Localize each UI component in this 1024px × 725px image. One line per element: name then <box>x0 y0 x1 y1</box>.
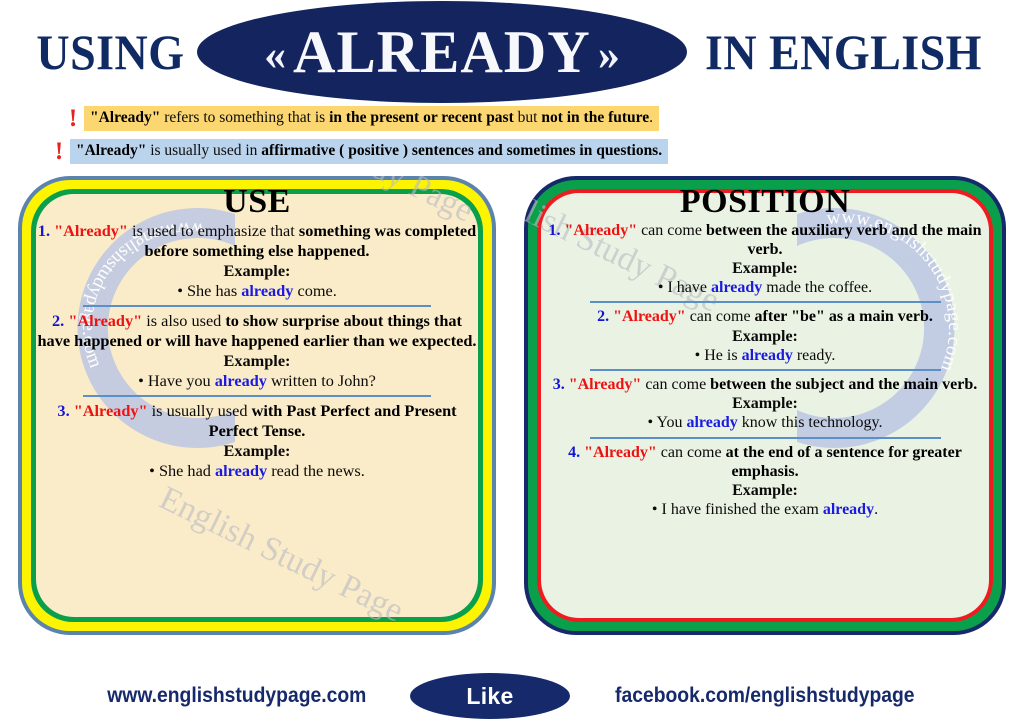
position-item-1: 1. "Already" can come between the auxili… <box>540 221 990 298</box>
position-item-4: 4. "Already" can come at the end of a se… <box>540 443 990 520</box>
position-item-4-text: 4. "Already" can come at the end of a se… <box>540 443 990 481</box>
position-item-4-example: • I have finished the exam already. <box>540 500 990 519</box>
position-item-2-example: • He is already ready. <box>540 346 990 365</box>
use-item-3-text: 3. "Already" is usually used with Past P… <box>34 401 480 441</box>
divider <box>590 369 941 371</box>
title-suffix: IN ENGLISH <box>705 27 982 77</box>
use-item-3-example-label: Example: <box>34 441 480 461</box>
note-banner-1: ! "Already" refers to something that is … <box>62 106 659 131</box>
panel-use-content: USE 1. "Already" is used to emphasize th… <box>18 176 496 635</box>
infographic-page: USING « ALREADY » IN ENGLISH ! "Already"… <box>0 0 1024 725</box>
position-item-4-example-label: Example: <box>540 481 990 500</box>
note-banners: ! "Already" refers to something that is … <box>0 106 1024 174</box>
position-item-3-text: 3. "Already" can come between the subjec… <box>540 375 990 394</box>
position-item-3-example: • You already know this technology. <box>540 413 990 432</box>
position-item-1-example-label: Example: <box>540 259 990 278</box>
use-item-2: 2. "Already" is also used to show surpri… <box>34 311 480 391</box>
guillemet-close-icon: » <box>594 33 624 77</box>
position-item-3: 3. "Already" can come between the subjec… <box>540 375 990 433</box>
panels: www.englishstudypage.com USE 1. "Already… <box>0 176 1024 644</box>
divider <box>83 305 431 307</box>
position-item-1-example: • I have already made the coffee. <box>540 278 990 297</box>
use-item-1-example-label: Example: <box>34 261 480 281</box>
use-item-2-example-label: Example: <box>34 351 480 371</box>
exclamation-icon: ! <box>62 106 84 131</box>
position-item-2: 2. "Already" can come after "be" as a ma… <box>540 307 990 365</box>
title-keyword-badge: « ALREADY » <box>197 1 687 103</box>
panel-position-content: POSITION 1. "Already" can come between t… <box>524 176 1006 635</box>
use-item-3-example: • She had already read the news. <box>34 461 480 481</box>
position-item-3-example-label: Example: <box>540 394 990 413</box>
use-item-1: 1. "Already" is used to emphasize that s… <box>34 221 480 301</box>
divider <box>590 437 941 439</box>
position-item-2-example-label: Example: <box>540 327 990 346</box>
footer: www.englishstudypage.com Like facebook.c… <box>0 667 1024 725</box>
position-item-1-text: 1. "Already" can come between the auxili… <box>540 221 990 259</box>
header: USING « ALREADY » IN ENGLISH <box>0 0 1024 104</box>
panel-use-title: USE <box>34 184 480 220</box>
divider <box>590 301 941 303</box>
panel-position: www.englishstudypage.com POSITION 1. "Al… <box>524 176 1006 635</box>
divider <box>83 395 431 397</box>
exclamation-icon: ! <box>48 139 70 164</box>
note-banner-2-text: "Already" is usually used in affirmative… <box>70 139 668 164</box>
title-keyword: ALREADY <box>293 22 591 82</box>
website-link[interactable]: www.englishstudypage.com <box>108 684 367 708</box>
use-item-2-text: 2. "Already" is also used to show surpri… <box>34 311 480 351</box>
use-item-1-example: • She has already come. <box>34 281 480 301</box>
position-item-2-text: 2. "Already" can come after "be" as a ma… <box>540 307 990 326</box>
facebook-link[interactable]: facebook.com/englishstudypage <box>615 684 915 708</box>
panel-use: www.englishstudypage.com USE 1. "Already… <box>18 176 496 635</box>
use-item-1-text: 1. "Already" is used to emphasize that s… <box>34 221 480 261</box>
guillemet-open-icon: « <box>260 33 290 77</box>
note-banner-2: ! "Already" is usually used in affirmati… <box>48 139 668 164</box>
like-button[interactable]: Like <box>410 673 570 719</box>
title-prefix: USING <box>37 27 185 77</box>
use-item-2-example: • Have you already written to John? <box>34 371 480 391</box>
use-item-3: 3. "Already" is usually used with Past P… <box>34 401 480 481</box>
like-button-label: Like <box>466 683 513 710</box>
panel-position-title: POSITION <box>540 184 990 220</box>
note-banner-1-text: "Already" refers to something that is in… <box>84 106 659 131</box>
